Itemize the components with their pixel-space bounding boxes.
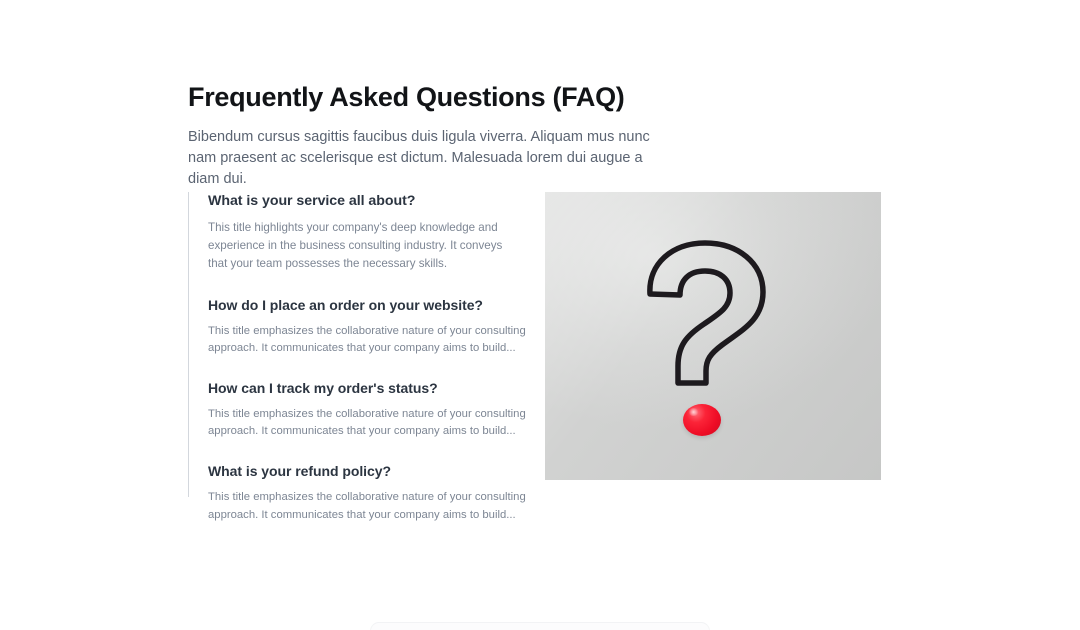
faq-answer: This title emphasizes the collaborative …	[208, 406, 526, 440]
faq-header: Frequently Asked Questions (FAQ) Bibendu…	[188, 80, 888, 190]
faq-answer: This title emphasizes the collaborative …	[208, 323, 526, 357]
faq-item[interactable]: What is your refund policy? This title e…	[208, 462, 528, 523]
faq-answer: This title highlights your company's dee…	[208, 219, 516, 274]
faq-item[interactable]: What is your service all about? This tit…	[208, 192, 528, 274]
faq-answer: This title emphasizes the collaborative …	[208, 489, 526, 523]
faq-item[interactable]: How can I track my order's status? This …	[208, 379, 528, 440]
faq-page: Frequently Asked Questions (FAQ) Bibendu…	[0, 0, 1080, 630]
question-mark-icon	[642, 238, 772, 390]
faq-question[interactable]: What is your service all about?	[208, 192, 528, 210]
faq-image	[545, 192, 881, 480]
page-subtitle: Bibendum cursus sagittis faucibus duis l…	[188, 127, 663, 190]
faq-question[interactable]: What is your refund policy?	[208, 462, 528, 480]
faq-question[interactable]: How can I track my order's status?	[208, 379, 528, 397]
page-title: Frequently Asked Questions (FAQ)	[188, 80, 888, 114]
faq-question[interactable]: How do I place an order on your website?	[208, 296, 528, 314]
faq-accordion-list: What is your service all about? This tit…	[188, 192, 528, 497]
red-ball-icon	[683, 404, 721, 436]
faq-body: What is your service all about? This tit…	[188, 192, 888, 502]
bottom-panel-sliver[interactable]	[370, 622, 710, 630]
faq-item[interactable]: How do I place an order on your website?…	[208, 296, 528, 357]
